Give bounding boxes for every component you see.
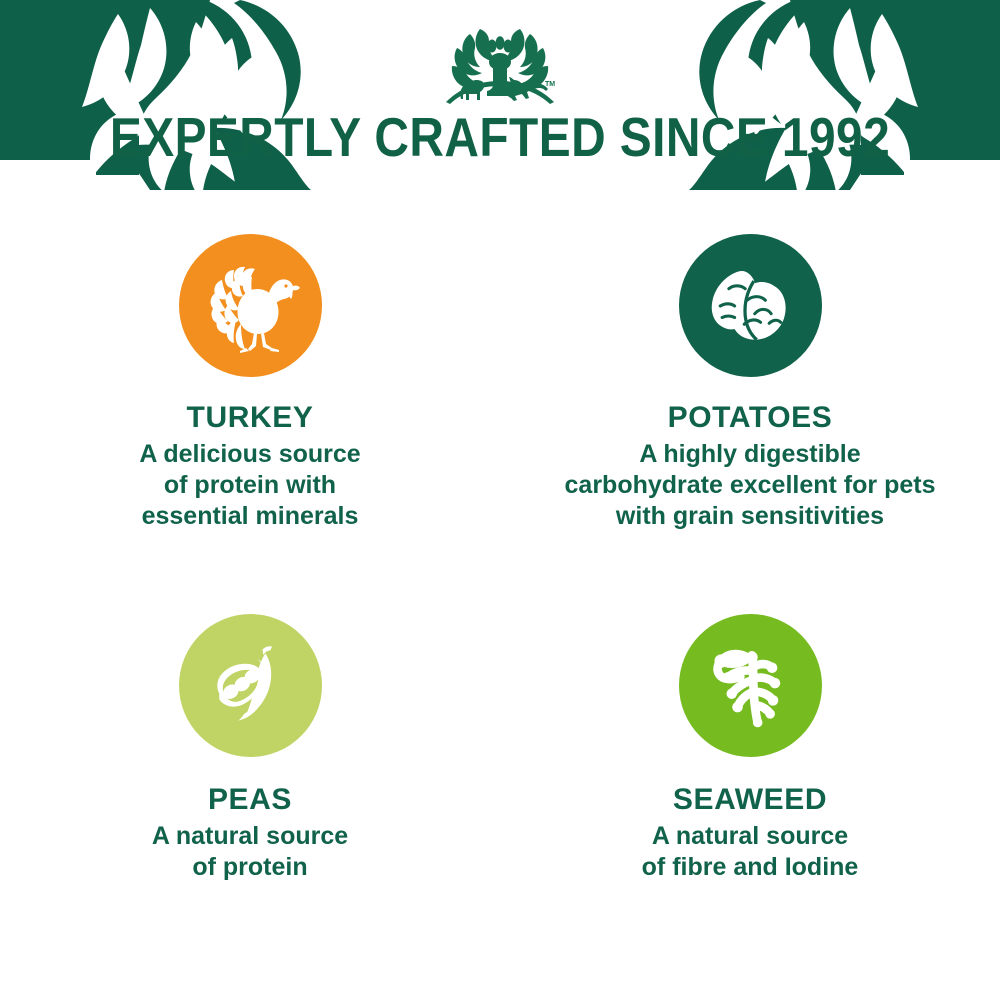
- ingredient-card-peas: PEAS A natural source of protein: [0, 614, 500, 994]
- ingredients-grid: TURKEY A delicious source of protein wit…: [0, 234, 1000, 994]
- ingredient-description: A natural source of fibre and Iodine: [642, 821, 859, 883]
- seaweed-icon: [702, 638, 798, 734]
- turkey-icon-circle: [179, 234, 322, 377]
- ingredient-card-potatoes: POTATOES A highly digestible carbohydrat…: [500, 234, 1000, 614]
- potatoes-icon: [702, 258, 798, 354]
- ingredient-card-seaweed: SEAWEED A natural source of fibre and Io…: [500, 614, 1000, 994]
- brand-logo: TM: [0, 24, 1000, 106]
- trademark-mark: TM: [545, 81, 555, 88]
- ingredient-name: PEAS: [208, 783, 292, 817]
- tree-with-paw-cat-dog-logo: TM: [440, 24, 560, 106]
- top-banner: TM EXPERTLY CRAFTED SINCE 1992: [0, 0, 1000, 190]
- ingredient-name: POTATOES: [668, 401, 833, 435]
- ingredient-description: A natural source of protein: [152, 821, 348, 883]
- ingredient-name: SEAWEED: [673, 783, 827, 817]
- seaweed-icon-circle: [679, 614, 822, 757]
- ingredient-name: TURKEY: [187, 401, 314, 435]
- page-title: EXPERTLY CRAFTED SINCE 1992: [65, 108, 935, 166]
- ingredient-description: A delicious source of protein with essen…: [139, 439, 360, 532]
- pea-pod-icon: [202, 638, 298, 734]
- ingredient-description: A highly digestible carbohydrate excelle…: [565, 439, 936, 532]
- page-root: { "brand": { "logo_icon": "tree-with-paw…: [0, 0, 1000, 1000]
- turkey-icon: [200, 256, 300, 356]
- ingredient-card-turkey: TURKEY A delicious source of protein wit…: [0, 234, 500, 614]
- pea-pod-icon-circle: [179, 614, 322, 757]
- potatoes-icon-circle: [679, 234, 822, 377]
